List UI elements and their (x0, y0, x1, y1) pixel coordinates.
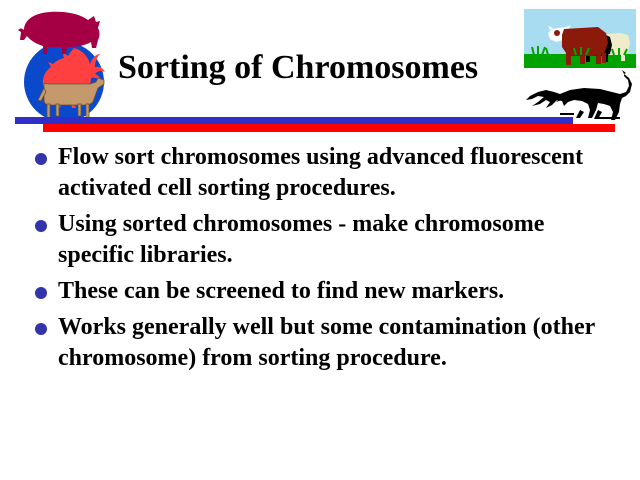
divider-rule-red (43, 124, 615, 132)
presentation-slide: Sorting of Chromosomes Flow sort chromos… (0, 0, 640, 480)
horse-icon (526, 70, 632, 120)
slide-header: Sorting of Chromosomes (0, 0, 640, 135)
bullet-marker-icon (35, 153, 47, 165)
livestock-roundel-logo (12, 4, 116, 124)
divider-rule-blue (15, 117, 573, 124)
list-item-label: Flow sort chromosomes using advanced flu… (58, 142, 626, 204)
bullet-marker-icon (35, 287, 47, 299)
bullet-marker-icon (35, 220, 47, 232)
list-item-label: Using sorted chromosomes - make chromoso… (58, 209, 626, 271)
list-item: Using sorted chromosomes - make chromoso… (30, 209, 626, 271)
list-item-label: Works generally well but some contaminat… (58, 312, 626, 374)
list-item: Works generally well but some contaminat… (30, 312, 626, 374)
list-item-label: These can be screened to find new marker… (58, 276, 626, 307)
list-item: Flow sort chromosomes using advanced flu… (30, 142, 626, 204)
bullet-list: Flow sort chromosomes using advanced flu… (30, 142, 626, 379)
page-title: Sorting of Chromosomes (118, 48, 528, 88)
list-item: These can be screened to find new marker… (30, 276, 626, 307)
cattle-pasture-photo (524, 9, 636, 68)
bullet-marker-icon (35, 323, 47, 335)
